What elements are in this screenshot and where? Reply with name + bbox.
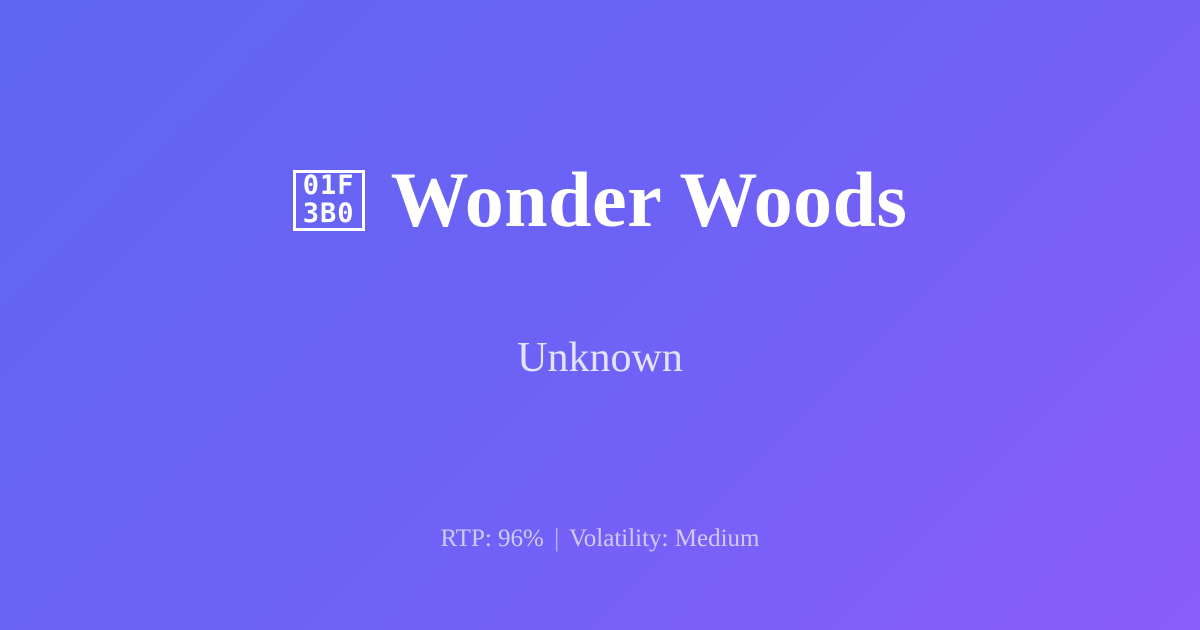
volatility-value: Medium (675, 525, 760, 552)
stats-separator: | (550, 525, 563, 552)
rtp-value: 96% (498, 525, 544, 552)
glyph-codepoint-top: 01F (303, 172, 355, 200)
volatility-label: Volatility: (569, 525, 669, 552)
game-stats-line: RTP: 96% | Volatility: Medium (0, 526, 1200, 551)
title-row: 01F 3B0 Wonder Woods (293, 109, 908, 292)
glyph-codepoint-bottom: 3B0 (303, 200, 355, 228)
slot-machine-icon: 01F 3B0 (293, 170, 365, 231)
page-title: Wonder Woods (391, 161, 908, 239)
rtp-label: RTP: (441, 525, 492, 552)
game-provider: Unknown (517, 337, 683, 379)
game-og-card: 01F 3B0 Wonder Woods Unknown RTP: 96% | … (0, 0, 1200, 630)
hero-section: 01F 3B0 Wonder Woods Unknown (0, 0, 1200, 470)
